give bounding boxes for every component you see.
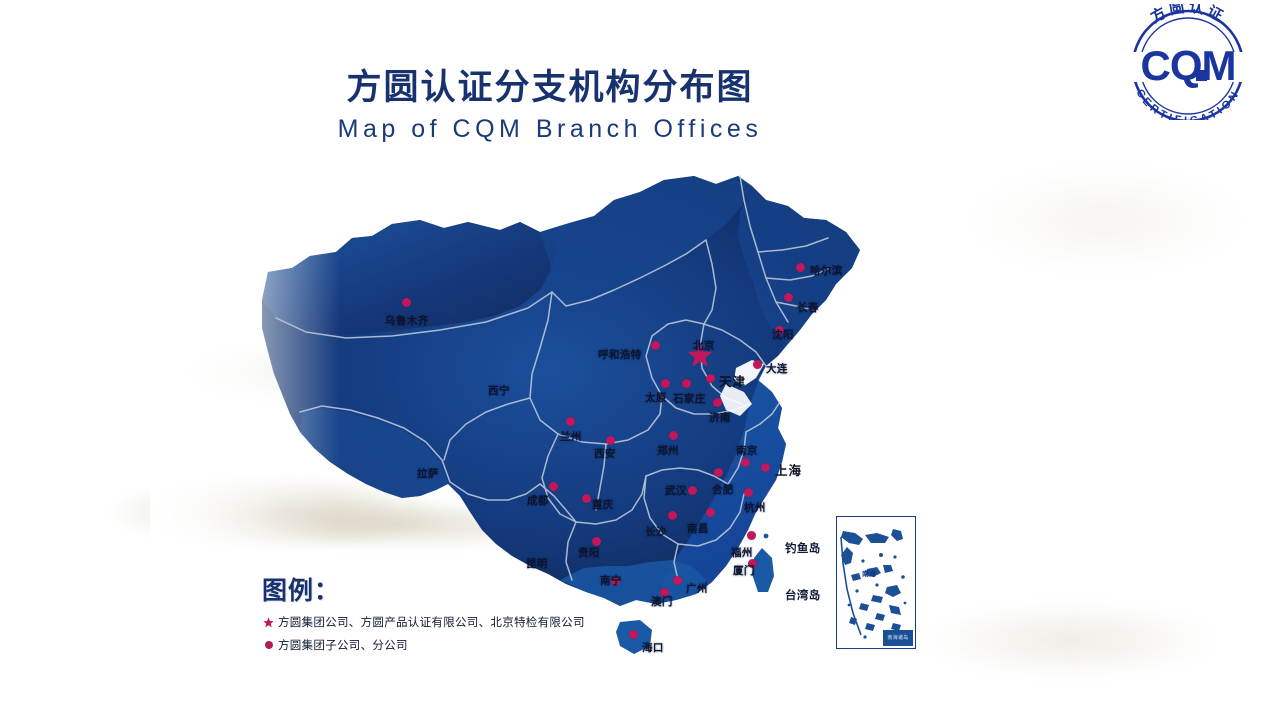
city-marker-dot <box>582 494 591 503</box>
inset-badge: 南海诸岛 <box>883 630 913 646</box>
legend-label: 方圆集团子公司、分公司 <box>278 637 408 653</box>
star-icon <box>262 616 275 629</box>
city-marker-dot <box>753 360 762 369</box>
city-marker-dot <box>784 293 793 302</box>
city-label: 呼和浩特 <box>598 347 642 362</box>
city-marker-dot <box>669 431 678 440</box>
legend: 图例： 方圆集团公司、方圆产品认证有限公司、北京特检有限公司方圆集团子公司、分公… <box>262 571 585 653</box>
city-label: 石家庄 <box>673 391 706 406</box>
city-marker-dot <box>688 486 697 495</box>
city-label: 杭州 <box>744 500 766 515</box>
city-marker-dot <box>761 463 770 472</box>
city-label: 澳门 <box>651 594 673 609</box>
city-marker-dot <box>747 531 756 540</box>
inset-sea-label: 南海 <box>862 569 876 579</box>
inset-map-svg <box>837 517 914 647</box>
legend-row: 方圆集团子公司、分公司 <box>262 637 585 653</box>
city-label: 哈尔滨 <box>810 263 843 278</box>
city-label: 昆明 <box>526 556 548 571</box>
city-label: 北京 <box>693 338 715 353</box>
city-label: 乌鲁木齐 <box>385 313 429 328</box>
city-marker-dot <box>706 508 715 517</box>
city-marker-dot <box>651 341 660 350</box>
city-label: 合肥 <box>712 482 734 497</box>
city-marker-dot <box>661 379 670 388</box>
city-label: 广州 <box>686 581 708 596</box>
city-marker-dot <box>713 398 722 407</box>
city-marker-dot <box>402 298 411 307</box>
city-label: 太原 <box>645 390 667 405</box>
city-label: 沈阳 <box>772 327 794 342</box>
city-label: 厦门 <box>733 563 755 578</box>
city-label: 贵阳 <box>578 545 600 560</box>
city-marker-dot <box>566 417 575 426</box>
city-label: 武汉 <box>665 483 687 498</box>
city-marker-dot <box>796 263 805 272</box>
city-marker-dot <box>629 630 638 639</box>
city-label: 郑州 <box>657 443 679 458</box>
city-label: 重庆 <box>592 497 614 512</box>
city-marker-dot <box>673 576 682 585</box>
legend-items: 方圆集团公司、方圆产品认证有限公司、北京特检有限公司方圆集团子公司、分公司 <box>262 614 585 653</box>
dot-icon <box>262 639 275 652</box>
china-map: 乌鲁木齐西宁兰州拉萨呼和浩特哈尔滨长春沈阳大连北京天津太原石家庄济南西安郑州南京… <box>0 0 1280 720</box>
city-label: 上海 <box>775 460 802 479</box>
city-label: 兰州 <box>560 429 582 444</box>
city-label: 福州 <box>731 545 753 560</box>
city-label: 济南 <box>709 410 731 425</box>
legend-row: 方圆集团公司、方圆产品认证有限公司、北京特检有限公司 <box>262 614 585 630</box>
city-label: 拉萨 <box>417 466 439 481</box>
city-marker-dot <box>706 374 715 383</box>
city-label: 海口 <box>642 640 664 655</box>
city-marker-dot <box>741 458 750 467</box>
city-label: 南京 <box>736 443 758 458</box>
city-marker-dot <box>744 488 753 497</box>
island-label: 台湾岛 <box>785 587 821 603</box>
city-marker-dot <box>682 379 691 388</box>
city-label: 成都 <box>527 493 549 508</box>
city-marker-dot <box>606 436 615 445</box>
city-marker-dot <box>668 511 677 520</box>
island-label: 钓鱼岛 <box>785 540 821 556</box>
city-label: 长春 <box>797 300 819 315</box>
city-label: 西安 <box>594 446 616 461</box>
city-marker-dot <box>714 468 723 477</box>
legend-title: 图例： <box>262 571 585 607</box>
legend-label: 方圆集团公司、方圆产品认证有限公司、北京特检有限公司 <box>278 614 585 630</box>
city-label: 天津 <box>719 371 746 390</box>
city-label: 南昌 <box>687 521 709 536</box>
city-marker-dot <box>549 482 558 491</box>
city-label: 大连 <box>766 361 788 376</box>
city-label: 长沙 <box>645 524 667 539</box>
city-label: 南宁 <box>600 573 622 588</box>
south-china-sea-inset: 南海 南海诸岛 <box>836 516 916 649</box>
city-label: 西宁 <box>488 383 510 398</box>
